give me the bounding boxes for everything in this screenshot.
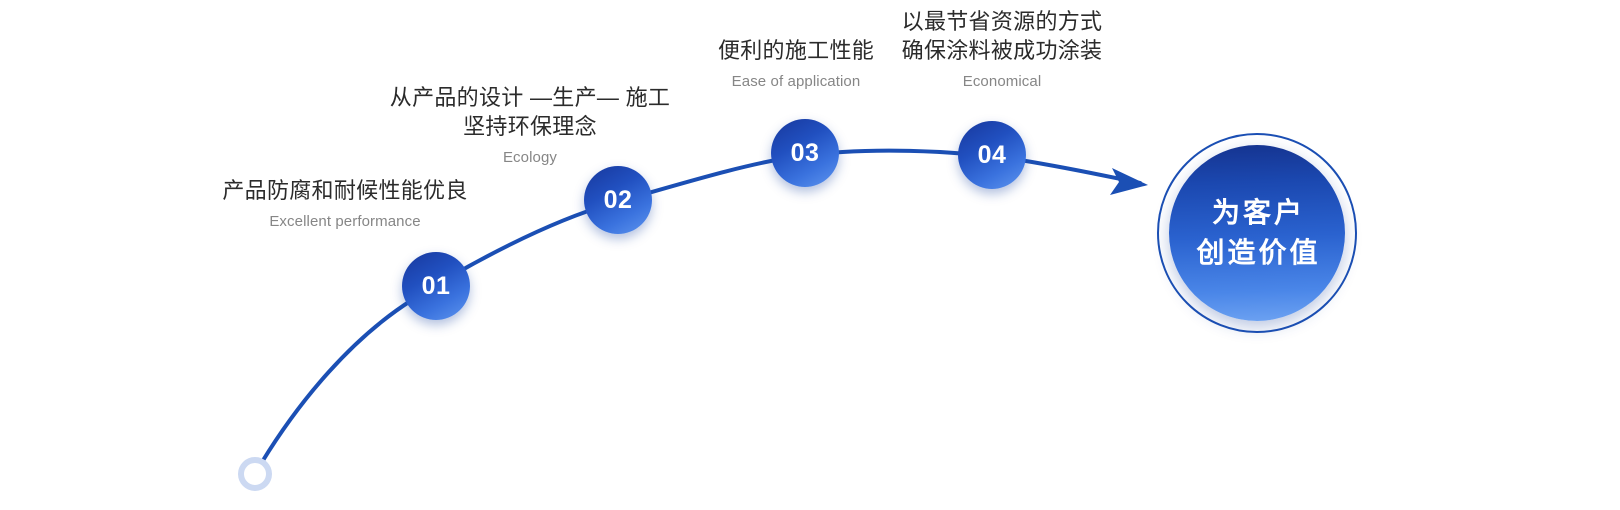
step-label-04-cn: 以最节省资源的方式 确保涂料被成功涂装 xyxy=(902,7,1103,65)
step-label-02-en: Ecology xyxy=(390,148,670,168)
step-label-02: 从产品的设计 —生产— 施工 坚持环保理念 Ecology xyxy=(390,83,670,168)
step-label-01: 产品防腐和耐候性能优良 Excellent performance xyxy=(222,176,467,232)
step-node-01[interactable]: 01 xyxy=(402,252,470,320)
step-node-03-number: 03 xyxy=(791,141,820,166)
step-label-02-cn-line-1: 从产品的设计 —生产— 施工 xyxy=(390,83,670,112)
step-label-04-cn-line-2: 确保涂料被成功涂装 xyxy=(902,36,1103,65)
step-node-03[interactable]: 03 xyxy=(771,119,839,187)
goal-circle[interactable]: 为客户 创造价值 xyxy=(1157,133,1357,333)
start-dot-icon xyxy=(241,460,269,488)
step-label-01-cn-line-1: 产品防腐和耐候性能优良 xyxy=(222,176,467,205)
step-node-02-number: 02 xyxy=(604,188,633,213)
step-label-03-cn-line-1: 便利的施工性能 xyxy=(718,36,874,65)
step-label-01-cn: 产品防腐和耐候性能优良 xyxy=(222,176,467,205)
goal-text-line-2: 创造价值 xyxy=(1193,233,1320,273)
step-label-01-en: Excellent performance xyxy=(222,212,467,232)
step-label-04-cn-line-1: 以最节省资源的方式 xyxy=(902,7,1103,36)
step-label-03-cn: 便利的施工性能 xyxy=(718,36,874,65)
step-node-04[interactable]: 04 xyxy=(958,121,1026,189)
goal-circle-inner: 为客户 创造价值 xyxy=(1169,145,1345,321)
goal-text-line-1: 为客户 xyxy=(1209,193,1305,233)
step-node-04-number: 04 xyxy=(978,143,1007,168)
arrow-head-icon xyxy=(1110,168,1148,195)
step-label-02-cn: 从产品的设计 —生产— 施工 坚持环保理念 xyxy=(390,83,670,141)
step-label-02-cn-line-2: 坚持环保理念 xyxy=(390,112,670,141)
step-label-03: 便利的施工性能 Ease of application xyxy=(718,36,874,92)
step-label-04: 以最节省资源的方式 确保涂料被成功涂装 Economical xyxy=(902,7,1103,92)
step-node-02[interactable]: 02 xyxy=(584,166,652,234)
infographic-canvas: 产品防腐和耐候性能优良 Excellent performance 从产品的设计… xyxy=(0,0,1620,510)
step-label-04-en: Economical xyxy=(902,72,1103,92)
step-node-01-number: 01 xyxy=(422,274,451,299)
step-label-03-en: Ease of application xyxy=(718,72,874,92)
